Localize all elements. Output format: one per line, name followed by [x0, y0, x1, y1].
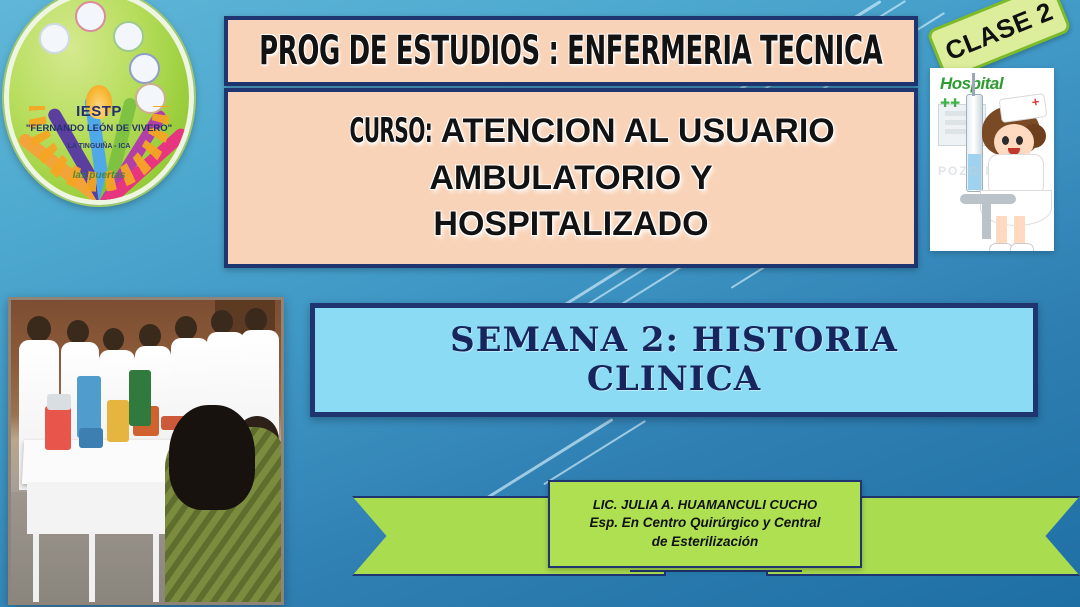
- photo-person-head: [175, 316, 197, 340]
- clase-badge-label: CLASE 2: [941, 0, 1058, 67]
- photo-table-display-item: [107, 400, 129, 442]
- slide-canvas: IESTP "FERNANDO LEÓN DE VIVERO" LA TINGU…: [0, 0, 1080, 607]
- presenter-info-panel: LIC. JULIA A. HUAMANCULI CUCHO Esp. En C…: [548, 480, 862, 568]
- course-keyword: CURSO:: [350, 108, 433, 155]
- photo-table-leg: [33, 532, 39, 605]
- course-title-line-1: CURSO: ATENCION AL USUARIO: [307, 108, 834, 155]
- photo-person-head: [245, 308, 267, 332]
- photo-attendee-hair: [169, 405, 255, 510]
- program-title-box: PROG DE ESTUDIOS : ENFERMERIA TECNICA: [224, 16, 918, 86]
- course-title-line-3: HOSPITALIZADO: [433, 201, 708, 248]
- nurse-eye-right: [1016, 136, 1023, 145]
- program-title-text: PROG DE ESTUDIOS : ENFERMERIA TECNICA: [259, 28, 882, 74]
- logo-badge-pharmacy-icon: [113, 21, 144, 52]
- course-title-box: CURSO: ATENCION AL USUARIO AMBULATORIO Y…: [224, 88, 918, 268]
- logo-ellipse: IESTP "FERNANDO LEÓN DE VIVERO" LA TINGU…: [4, 0, 194, 205]
- photo-table-display-item: [45, 406, 71, 450]
- photo-person-head: [67, 320, 89, 344]
- logo-badge-dental-icon: [39, 23, 70, 54]
- photo-person-head: [27, 316, 51, 342]
- photo-table-leg: [153, 532, 159, 605]
- photo-information-poster: [79, 428, 103, 448]
- nurse-eye-left: [1002, 136, 1009, 145]
- presenter-ribbon-banner: LIC. JULIA A. HUAMANCULI CUCHO Esp. En C…: [352, 480, 1080, 600]
- nurse-shoe-right: [1010, 243, 1034, 251]
- nursing-students-health-fair-photo: [8, 297, 284, 605]
- photo-person-head: [211, 310, 233, 334]
- logo-line-2: "FERNANDO LEÓN DE VIVERO": [9, 124, 189, 134]
- streak: [543, 420, 646, 485]
- logo-badge-lab-icon: [129, 53, 160, 84]
- logo-line-1: IESTP: [9, 104, 189, 120]
- course-title-line-2: AMBULATORIO Y: [429, 155, 712, 202]
- logo-badge-heart-icon: [75, 1, 106, 32]
- week-topic-box: SEMANA 2: HISTORIA CLINICA: [310, 303, 1038, 417]
- photo-person-head: [103, 328, 124, 351]
- photo-person-head: [139, 324, 161, 348]
- logo-line-3: LA TINGUIÑA - ICA: [9, 143, 189, 150]
- nurse-with-syringe-illustration: Hospital ✚✚ POZO MAGICA: [930, 68, 1054, 251]
- week-topic-line-1: SEMANA 2: HISTORIA: [450, 321, 898, 360]
- presenter-name: LIC. JULIA A. HUAMANCULI CUCHO: [593, 496, 817, 514]
- iestp-logo: IESTP "FERNANDO LEÓN DE VIVERO" LA TINGU…: [4, 0, 194, 205]
- photo-table-display-item: [47, 394, 71, 410]
- medical-cross-icon: ✚✚: [940, 96, 960, 110]
- nurse-cap-icon: [999, 93, 1048, 123]
- photo-information-poster: [129, 370, 151, 426]
- nurse-leg-left: [996, 216, 1007, 246]
- nurse-leg-right: [1014, 216, 1025, 246]
- stool-prop: [960, 194, 1016, 204]
- week-topic-line-2: CLINICA: [587, 360, 761, 399]
- logo-line-4: las puertas: [9, 171, 189, 182]
- course-line-1-text: ATENCION AL USUARIO: [441, 112, 835, 150]
- presenter-specialty-line-2: de Esterilización: [652, 533, 759, 552]
- presenter-specialty-line-1: Esp. En Centro Quirúrgico y Central: [589, 514, 820, 533]
- photo-table-leg: [89, 532, 95, 605]
